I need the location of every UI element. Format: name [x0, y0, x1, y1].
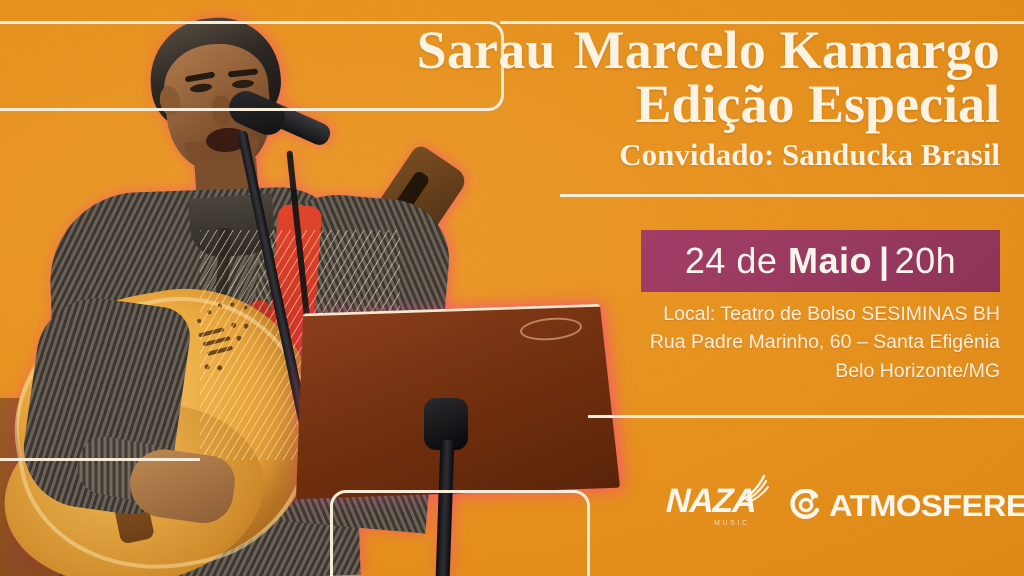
logo-naza-wordmark: NAZA — [665, 484, 756, 518]
venue-line-2: Rua Padre Marinho, 60 – Santa Efigênia — [580, 328, 1000, 356]
guest-line: Convidado: Sanducka Brasil — [300, 136, 1000, 175]
logo-naza-subtitle: MUSIC — [714, 520, 750, 527]
event-poster: SarauMarcelo Kamargo Edição Especial Con… — [0, 0, 1024, 576]
venue-line-1: Local: Teatro de Bolso SESIMINAS BH — [580, 300, 1000, 328]
date-banner: 24 de Maio|20h — [641, 230, 1000, 292]
date-day: 24 de — [685, 240, 778, 281]
date-separator: | — [879, 240, 890, 281]
logo-atmosfere-wordmark: ATMOSFERE® — [829, 490, 1024, 521]
sponsor-logos: NAZA MUSIC ATMOSFERE® — [666, 474, 996, 536]
event-word: Sarau — [417, 20, 556, 80]
title-block: SarauMarcelo Kamargo Edição Especial Con… — [300, 22, 1000, 175]
artist-name: Marcelo Kamargo — [574, 20, 1000, 80]
logo-atmosfere: ATMOSFERE® — [790, 489, 1022, 521]
title-line-main: SarauMarcelo Kamargo — [300, 22, 1000, 78]
venue-line-3: Belo Horizonte/MG — [580, 357, 1000, 385]
venue-block: Local: Teatro de Bolso SESIMINAS BH Rua … — [580, 300, 1000, 385]
logo-naza: NAZA MUSIC — [666, 484, 756, 527]
date-month: Maio — [788, 240, 872, 281]
date-text: 24 de Maio|20h — [685, 240, 956, 282]
edition-title: Edição Especial — [300, 76, 1000, 132]
swirl-circle-icon — [790, 489, 822, 521]
date-time: 20h — [895, 240, 957, 281]
